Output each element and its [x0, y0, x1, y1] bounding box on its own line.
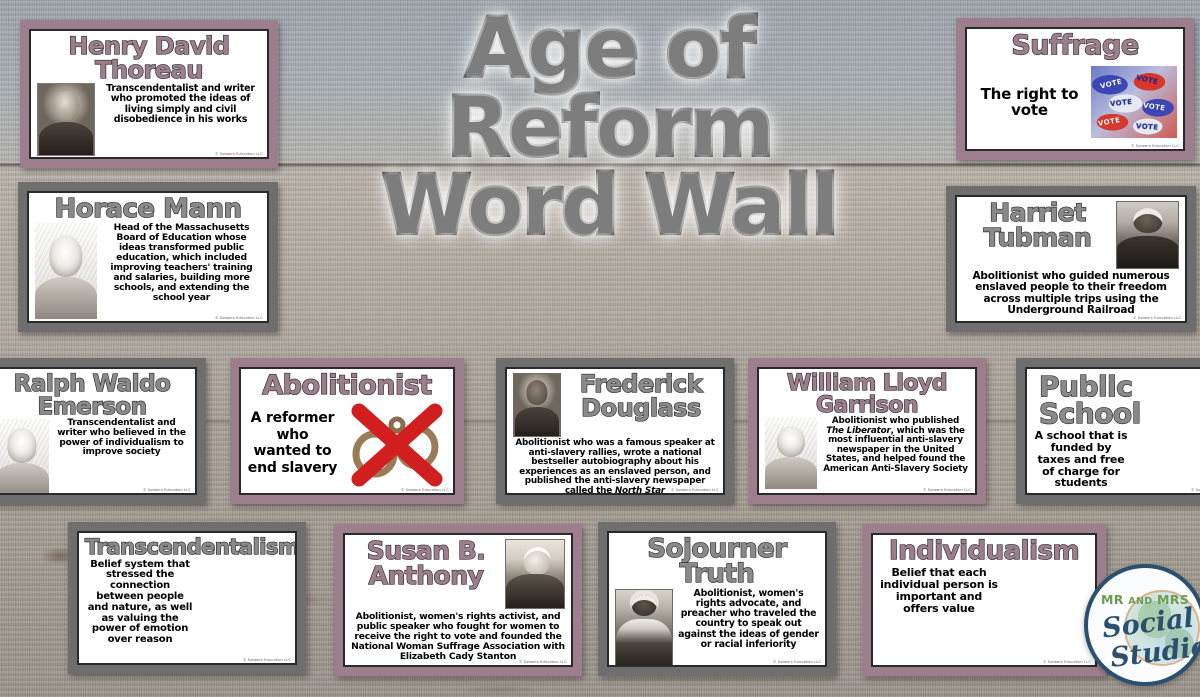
horace-mann-portrait	[35, 223, 97, 319]
vote-badge-label: VOTE	[1135, 74, 1159, 86]
copyright-notice: © Sotwers Education LLC	[143, 488, 191, 492]
copyright-notice: © Sotwers Education LLC	[1043, 660, 1091, 664]
copyright-notice: © Sotwers Education LLC	[215, 152, 263, 156]
card-horace-mann[interactable]: Horace Mann Head of the Massachusetts Bo…	[18, 182, 278, 332]
vote-badge-label: VOTE	[1142, 102, 1165, 113]
card-henry-david-thoreau[interactable]: Henry David Thoreau Transcendentalist an…	[20, 20, 278, 168]
card-body-italic: North Star	[615, 486, 665, 496]
card-body: Abolitionist who published The Liberator…	[822, 417, 969, 474]
card-harriet-tubman[interactable]: Harriet Tubman Abolitionist who guided n…	[946, 186, 1196, 332]
card-body: Belief system that stressed the connecti…	[85, 560, 195, 646]
card-body: The right to vote	[973, 86, 1086, 118]
copyright-notice: © Sotwers Education LLC	[773, 660, 821, 664]
card-william-lloyd-garrison[interactable]: William Lloyd Garrison Abolitionist who …	[748, 358, 986, 504]
logo-and: AND	[1128, 596, 1152, 607]
copyright-notice: © Sotwers Education LLC	[671, 488, 719, 492]
vote-badge-label: VOTE	[1099, 78, 1123, 91]
card-abolitionist[interactable]: Abolitionist A reformer who wanted to en…	[230, 358, 464, 504]
copyright-notice: © Sotwers Education LLC	[215, 316, 263, 320]
copyright-notice: © Sotwers Education LLC	[923, 488, 971, 492]
card-title: Henry David Thoreau	[37, 35, 261, 82]
copyright-notice: © Sotwers Education LLC	[401, 488, 449, 492]
card-body: Abolitionist, women's rights activist, a…	[351, 612, 565, 662]
vote-badge-label: VOTE	[1110, 98, 1133, 108]
copyright-notice: © Sotwers Education LLC	[1133, 316, 1181, 320]
page-title: Age of Reform Word Wall	[355, 10, 865, 246]
card-body: Transcendentalist and writer who promote…	[100, 83, 261, 125]
frederick-douglass-portrait	[513, 373, 561, 437]
sojourner-truth-portrait	[615, 589, 673, 667]
card-title: Susan B. Anthony	[351, 539, 501, 588]
card-title: Suffrage	[973, 33, 1177, 59]
card-body: Head of the Massachusetts Board of Educa…	[102, 223, 261, 303]
card-body: Abolitionist, women's rights advocate, a…	[678, 589, 819, 650]
card-body: Abolitionist who was a famous speaker at…	[513, 439, 717, 495]
brand-logo-badge[interactable]: MR AND MRS Social Studies	[1084, 564, 1200, 686]
card-public-school[interactable]: Public School A school that is funded by…	[1016, 358, 1200, 504]
card-body-text: Abolitionist who published	[832, 416, 959, 426]
copyright-notice: © Sotwers Education LLC	[519, 660, 567, 664]
copyright-notice: © Sotwers Education LLC	[1131, 144, 1179, 148]
susan-b-anthony-portrait	[505, 539, 565, 609]
card-title: Ralph Waldo Emerson	[0, 373, 189, 418]
vote-badge-label: VOTE	[1135, 123, 1158, 133]
vote-buttons-photo: VOTE VOTE VOTE VOTE VOTE VOTE	[1091, 66, 1177, 138]
shackles-crossed-out-icon	[343, 399, 447, 487]
harriet-tubman-portrait	[1116, 201, 1179, 269]
emerson-portrait	[0, 419, 49, 495]
card-title: William Lloyd Garrison	[765, 373, 969, 416]
word-wall-poster: Age of Reform Word Wall Henry David Thor…	[0, 0, 1200, 697]
title-line-2: Reform	[355, 89, 865, 168]
vote-badge-label: VOTE	[1097, 116, 1120, 128]
title-line-1: Age of	[355, 10, 865, 89]
card-title: Individualism	[879, 539, 1089, 564]
card-body: A school that is funded by taxes and fre…	[1033, 430, 1129, 489]
card-susan-b-anthony[interactable]: Susan B. Anthony Abolitionist, women's r…	[334, 524, 582, 676]
card-body: A reformer who wanted to end slavery	[247, 410, 338, 477]
card-transcendentalism[interactable]: Transcendentalism Belief system that str…	[68, 522, 306, 674]
card-title: Public School	[1033, 373, 1200, 428]
thoreau-portrait	[37, 83, 95, 156]
card-body: Transcendentalist and writer who believe…	[54, 419, 189, 458]
card-title: Frederick Douglass	[565, 373, 717, 420]
card-body: Abolitionist who guided numerous enslave…	[963, 271, 1179, 316]
card-title: Horace Mann	[35, 197, 261, 222]
garrison-portrait	[765, 417, 817, 489]
card-title: Transcendentalism	[85, 537, 289, 558]
card-body: Belief that each individual person is im…	[879, 567, 999, 615]
card-title: Harriet Tubman	[963, 201, 1112, 250]
logo-mr: MR	[1101, 592, 1124, 607]
card-frederick-douglass[interactable]: Frederick Douglass Abolitionist who was …	[496, 358, 734, 504]
title-line-3: Word Wall	[355, 167, 865, 246]
card-title: Sojourner Truth	[615, 537, 819, 588]
card-ralph-waldo-emerson[interactable]: Ralph Waldo Emerson Transcendentalist an…	[0, 358, 206, 504]
card-body-italic: The Liberator	[826, 426, 890, 436]
copyright-notice: © Sotwers Education LLC	[243, 658, 291, 662]
copyright-notice: © Sotwers Education LLC	[1191, 488, 1200, 492]
card-title: Abolitionist	[247, 373, 447, 399]
card-individualism[interactable]: Individualism Belief that each individua…	[862, 524, 1106, 676]
card-sojourner-truth[interactable]: Sojourner Truth Abolitionist, women's ri…	[598, 522, 836, 676]
card-suffrage[interactable]: Suffrage The right to vote VOTE VOTE VOT…	[956, 18, 1194, 160]
